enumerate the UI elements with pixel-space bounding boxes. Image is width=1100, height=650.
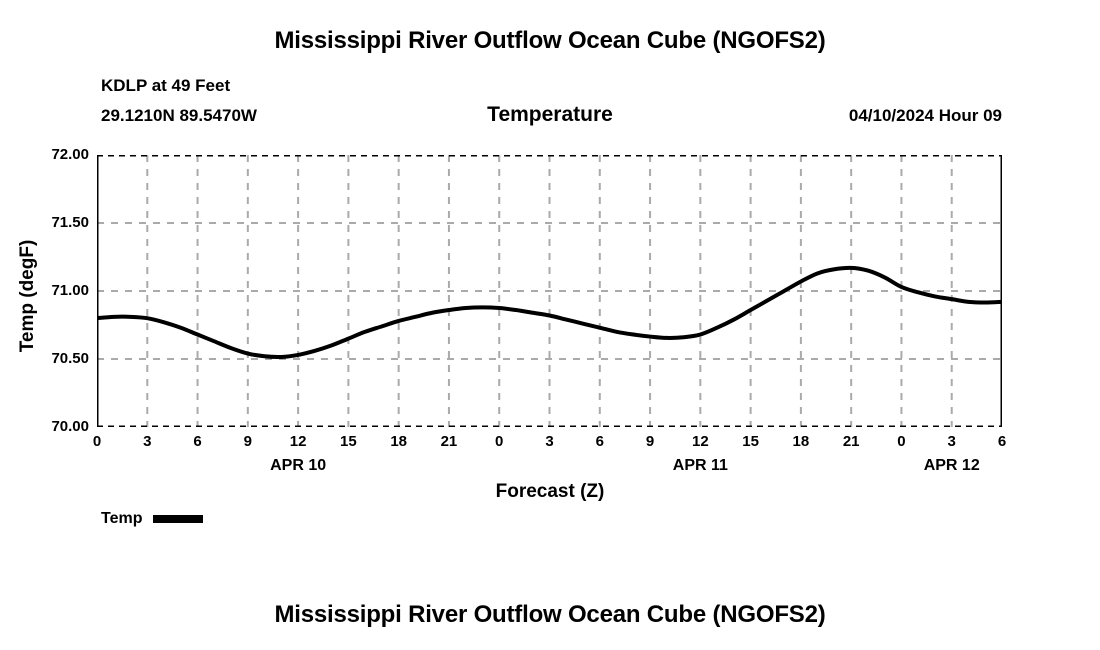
day-label: APR 11 (673, 457, 728, 475)
y-tick-label: 70.50 (19, 350, 89, 367)
page-title-top: Mississippi River Outflow Ocean Cube (NG… (0, 27, 1100, 55)
y-tick-label: 70.00 (19, 418, 89, 435)
x-tick-label: 12 (692, 433, 709, 450)
x-tick-label: 0 (495, 433, 503, 450)
x-tick-label: 18 (793, 433, 810, 450)
plot-area (97, 155, 1002, 427)
x-tick-label: 21 (441, 433, 458, 450)
y-tick-label: 71.00 (19, 282, 89, 299)
x-axis-title: Forecast (Z) (0, 481, 1100, 503)
x-axis-day-labels: APR 10APR 11APR 12 (97, 457, 1002, 481)
x-tick-label: 9 (244, 433, 252, 450)
temperature-line-chart (97, 155, 1002, 427)
chart-legend: Temp (101, 508, 203, 530)
x-tick-label: 6 (998, 433, 1006, 450)
y-axis-tick-labels: 70.0070.5071.0071.5072.00 (14, 155, 89, 427)
x-tick-label: 6 (596, 433, 604, 450)
x-tick-label: 12 (290, 433, 307, 450)
x-tick-label: 3 (545, 433, 553, 450)
station-name-label: KDLP at 49 Feet (101, 76, 230, 96)
x-tick-label: 6 (193, 433, 201, 450)
x-tick-label: 15 (742, 433, 759, 450)
day-label: APR 10 (270, 457, 326, 475)
chart-page: Mississippi River Outflow Ocean Cube (NG… (0, 0, 1100, 650)
x-tick-label: 0 (897, 433, 905, 450)
x-tick-label: 18 (390, 433, 407, 450)
y-tick-label: 72.00 (19, 146, 89, 163)
x-tick-label: 3 (143, 433, 151, 450)
legend-label-temp: Temp (101, 510, 142, 528)
x-tick-label: 9 (646, 433, 654, 450)
model-run-time-label: 04/10/2024 Hour 09 (849, 106, 1002, 126)
x-tick-label: 3 (948, 433, 956, 450)
legend-swatch-temp (153, 515, 203, 523)
x-axis-tick-labels: 036912151821036912151821036 (97, 433, 1002, 455)
page-title-bottom: Mississippi River Outflow Ocean Cube (NG… (0, 601, 1100, 629)
x-tick-label: 15 (340, 433, 357, 450)
day-label: APR 12 (924, 457, 980, 475)
y-tick-label: 71.50 (19, 214, 89, 231)
x-tick-label: 0 (93, 433, 101, 450)
x-tick-label: 21 (843, 433, 860, 450)
